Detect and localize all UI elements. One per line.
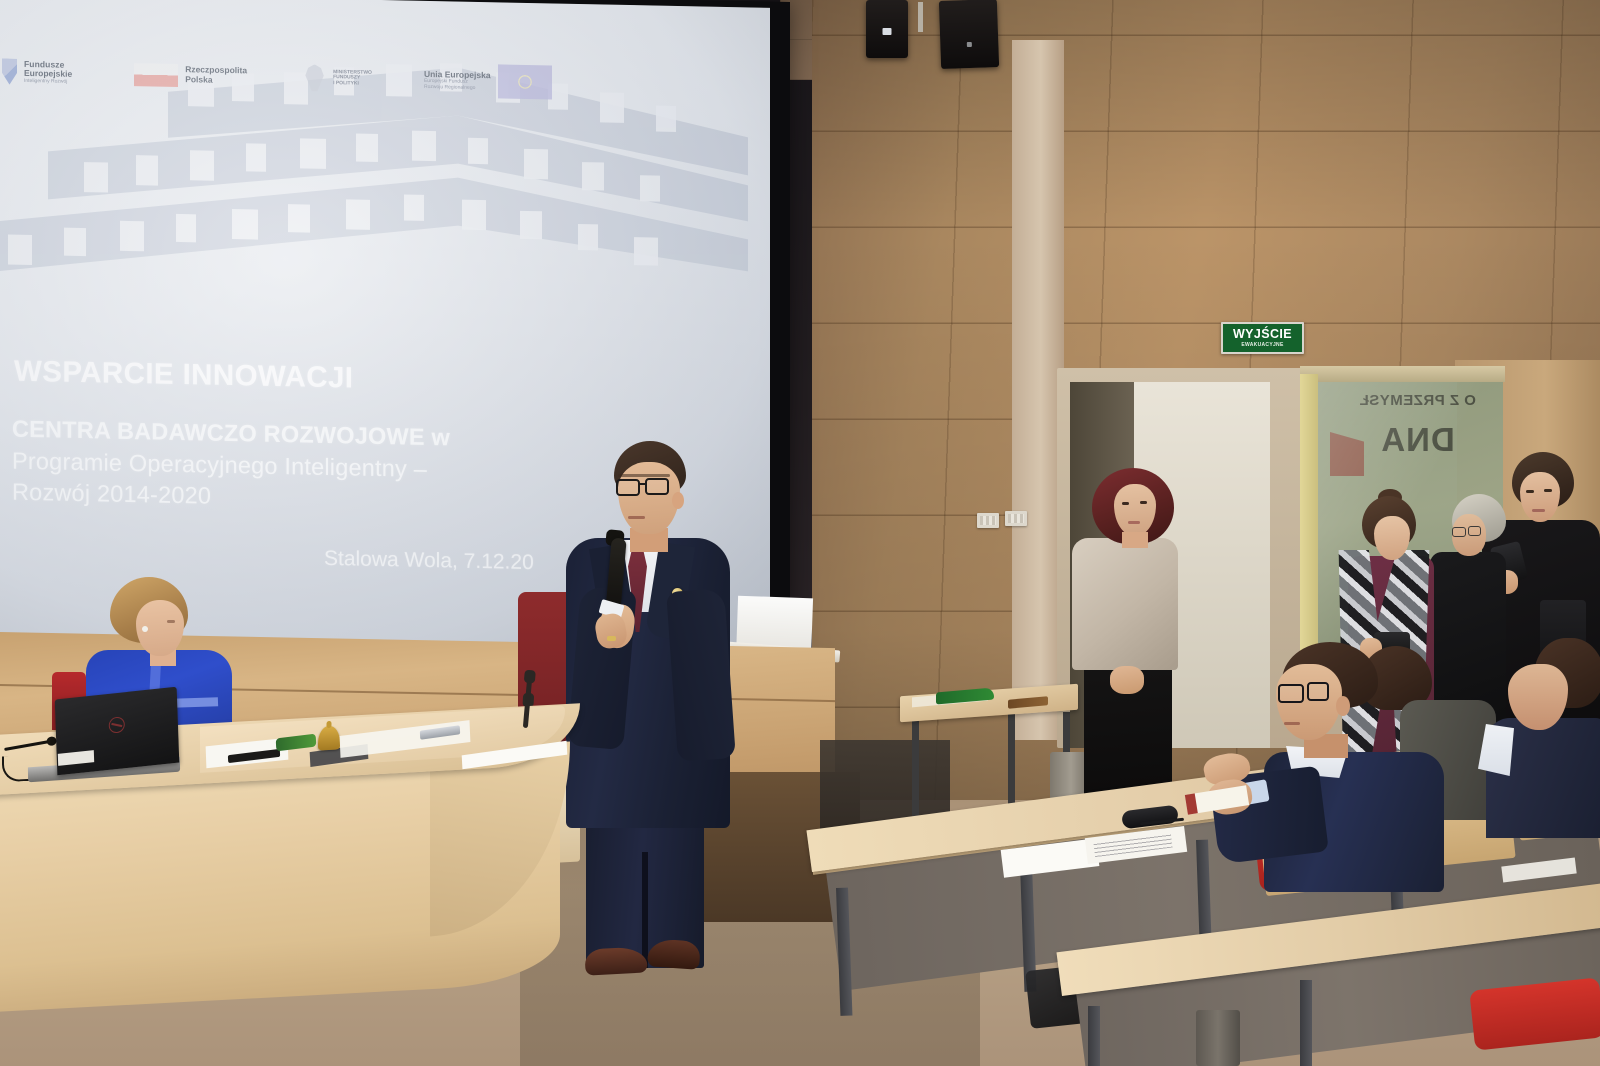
fundusze-europejskie-icon [2,58,17,84]
door-top-rail [1300,366,1505,382]
standing-woman-hands [1110,666,1144,694]
eyeglasses-icon [645,478,669,495]
document-lines [1093,834,1172,857]
logo-ministry: MINISTERSTWO FUNDUSZY I POLITYKI [303,64,372,92]
mouth-icon [1532,509,1545,512]
slide-subtitle: CENTRA BADAWCZO ROZWOJOWE w Programie Op… [12,414,572,520]
ring-icon [607,636,616,641]
mouth-icon [628,516,645,519]
eye-icon [1544,489,1552,492]
flag-poland-icon [134,63,178,87]
flag-eu-icon [498,64,552,99]
eye-icon [1140,501,1147,504]
jbl-badge-icon [883,28,892,35]
presenter-arm-right [666,588,736,762]
jbl-speaker-left [866,0,908,58]
ticket-stripe [1185,793,1198,814]
side-table-leg [912,706,919,826]
mouth-icon [1284,722,1300,725]
logo-text-line3: I POLITYKI [333,81,372,87]
desk-leg [1088,1006,1100,1066]
waste-bin [1196,1010,1240,1066]
logo-text-line3: Inteligentny Rozwój [24,79,72,86]
standing-woman-neck [1122,532,1148,548]
ear-icon [1336,696,1350,716]
earring-icon [142,626,148,632]
jbl-speaker-right [939,0,999,69]
eye-icon [1122,502,1129,505]
jbl-badge-icon [967,42,972,47]
eyeglasses-bridge-icon [639,483,647,485]
exit-sign-label: WYJŚCIE [1233,328,1292,341]
logo-fundusze-europejskie: Fundusze Europejskie Inteligentny Rozwój [2,58,72,85]
eagle-icon [303,64,326,91]
logo-text-line3: Rozwoju Regionalnego [424,85,491,92]
brass-bell[interactable] [318,725,340,750]
eyeglasses-icon [1278,684,1304,703]
logo-unia-europejska: Unia Europejska Europejski Fundusz Rozwo… [424,63,552,100]
eyeglasses-icon [1468,526,1481,536]
exit-sign-inner: WYJŚCIE EWAKUACYJNE [1223,324,1302,352]
eyeglasses-icon [1452,527,1466,537]
eyeglasses-icon [616,479,640,496]
standing-woman-blazer [1072,538,1178,670]
chairwoman-pocket [172,697,218,708]
dell-logo-icon [109,716,126,734]
slide-title: WSPARCIE INNOWACJI [14,355,714,403]
exit-sign: WYJŚCIE EWAKUACYJNE [1221,322,1304,354]
presenter-leg-gap [642,852,648,968]
eyebrows-icon [618,474,670,477]
eyeglasses-icon [1307,682,1329,701]
light-switch-plate-2[interactable] [1005,511,1027,526]
eye-icon [1526,490,1534,493]
light-switch-plate-1[interactable] [977,513,999,528]
ear-icon [672,492,684,509]
lecture-hall-scene: Fundusze Europejskie Inteligentny Rozwój… [0,0,1600,1066]
logo-text-line2: Polska [185,75,247,86]
speaker-bracket [918,2,923,32]
logo-rzeczpospolita-polska: Rzeczpospolita Polska [134,63,247,88]
desk-leg [1300,980,1312,1066]
exit-sign-sublabel: EWAKUACYJNE [1241,343,1283,348]
mouth-icon [1128,521,1140,524]
